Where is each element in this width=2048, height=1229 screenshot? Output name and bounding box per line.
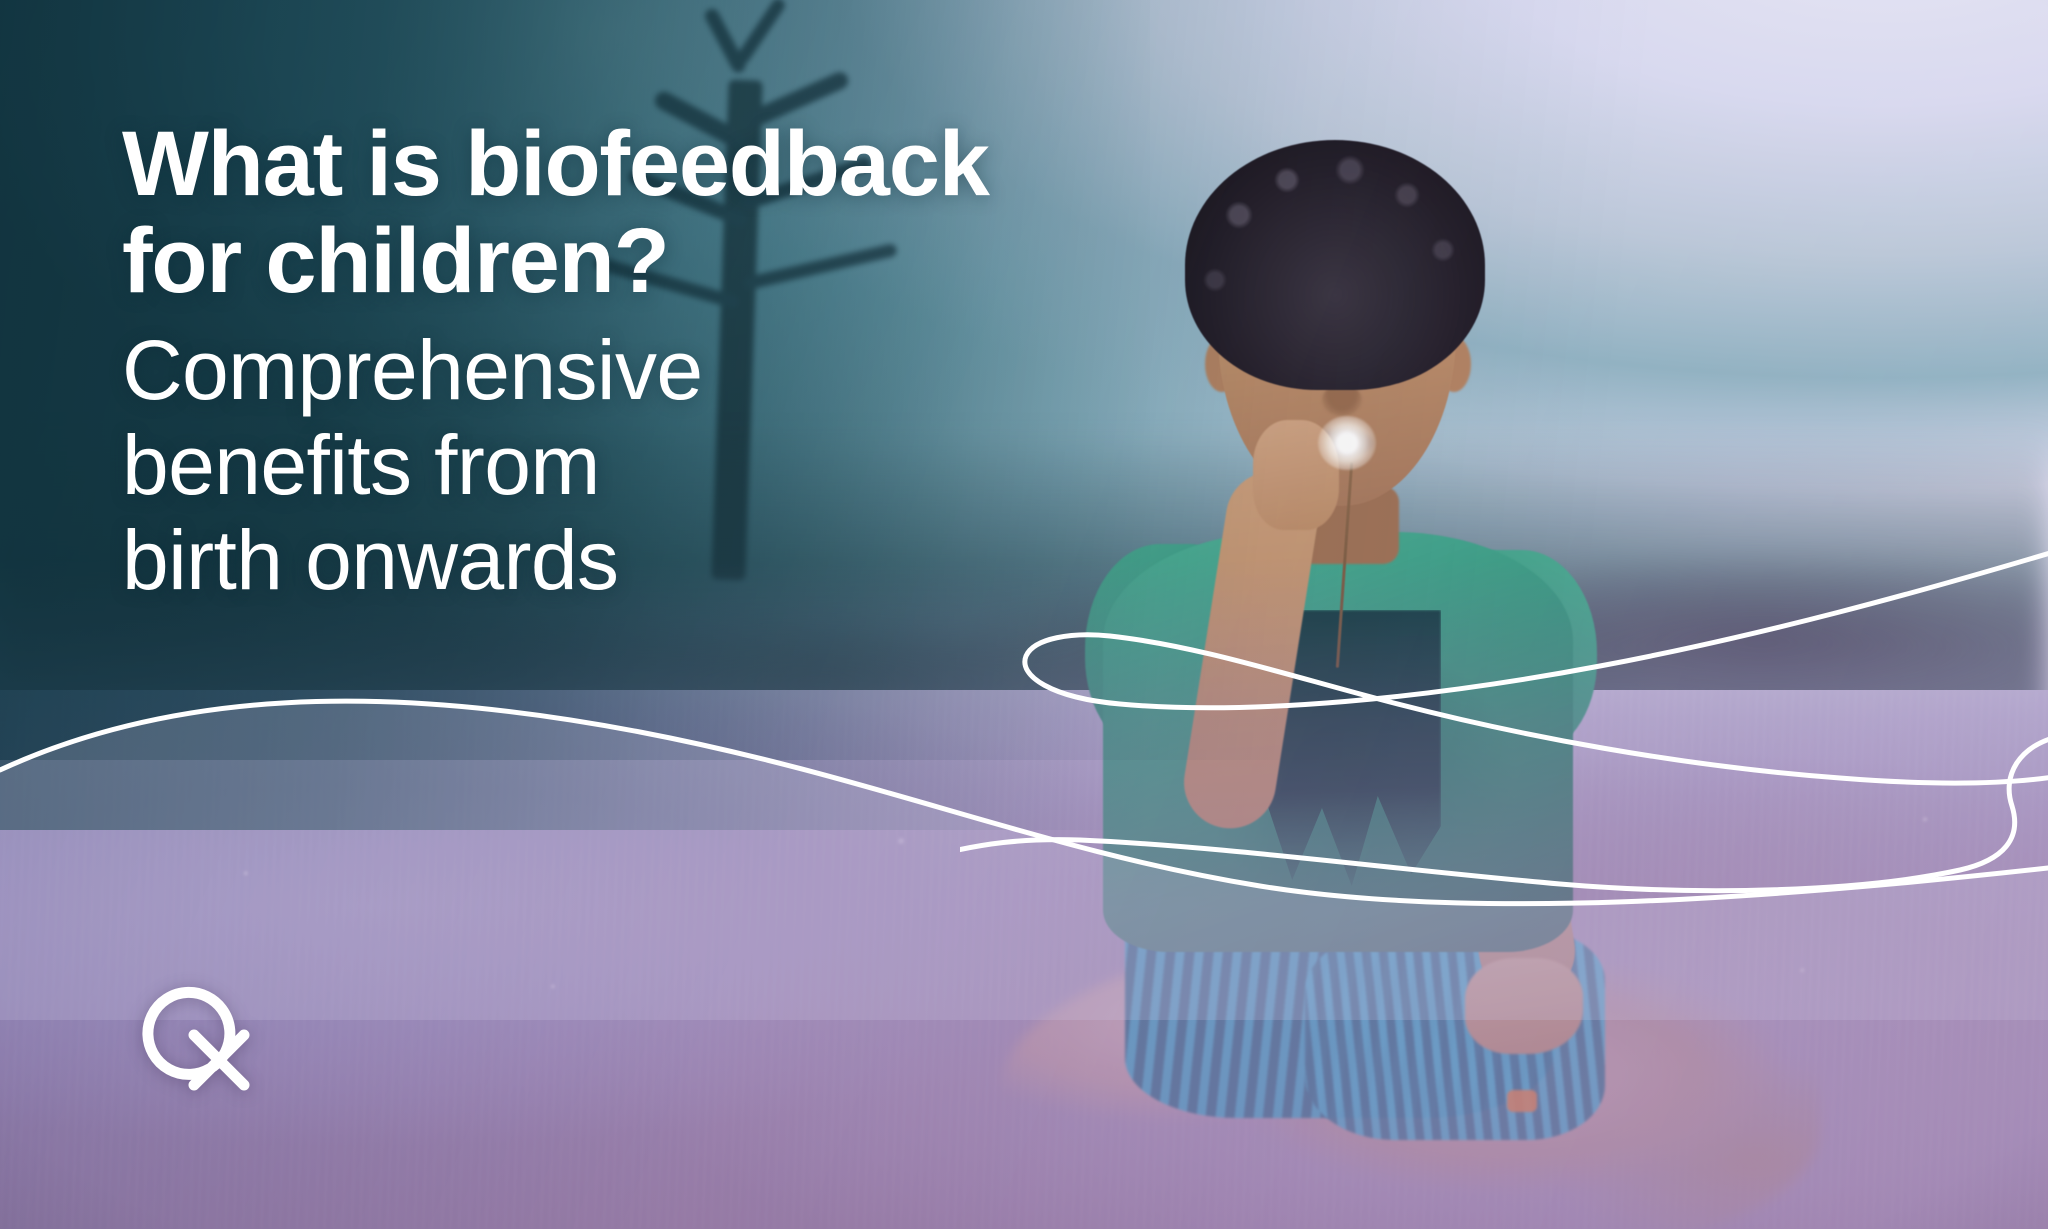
qx-logo-icon: [120, 965, 270, 1115]
brand-logo[interactable]: [120, 965, 270, 1115]
page-subtitle: Comprehensive benefits from birth onward…: [122, 323, 1132, 608]
headline-block: What is biofeedback for children? Compre…: [122, 116, 1132, 608]
page-title: What is biofeedback for children?: [122, 116, 1132, 309]
hero-banner: What is biofeedback for children? Compre…: [0, 0, 2048, 1229]
